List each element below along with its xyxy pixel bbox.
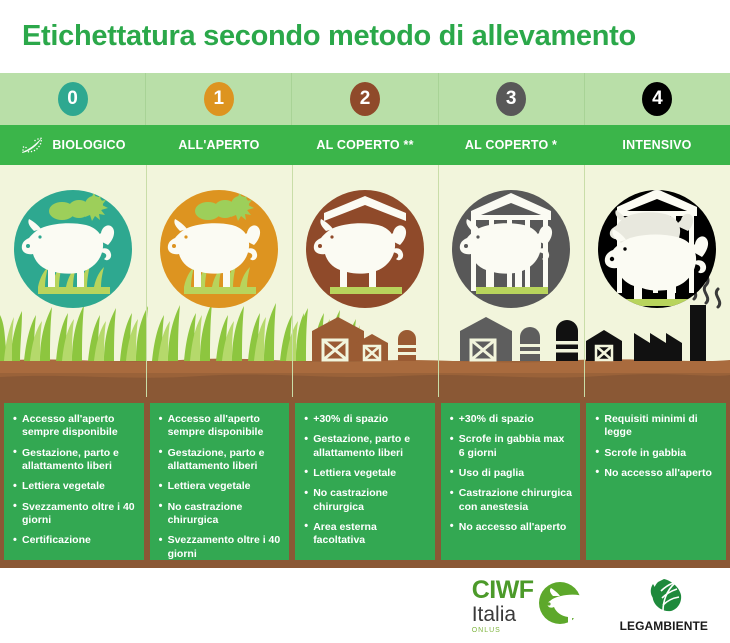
list-item: Svezzamento oltre i 40 giorni (13, 501, 136, 528)
ciwf-name: CIWF (472, 578, 534, 603)
ciwf-italia-logo: CIWF Italia ONLUS (472, 578, 594, 634)
list-item: Lettiera vegetale (304, 467, 427, 480)
criteria-box-3: +30% di spazio Scrofe in gabbia max 6 gi… (441, 403, 581, 560)
criteria-list-4: Requisiti minimi di legge Scrofe in gabb… (595, 413, 718, 480)
header-cell-4: INTENSIVO (584, 125, 730, 165)
scene-graphics (0, 165, 730, 397)
criteria-box-2: +30% di spazio Gestazione, parto e allat… (295, 403, 435, 560)
list-item: Gestazione, parto e allattamento liberi (304, 433, 427, 460)
circle-illustration-3 (452, 190, 570, 308)
badge-cell-3: 3 (439, 73, 585, 125)
circle-illustration-1 (160, 190, 278, 308)
list-item: No castrazione chirurgica (159, 501, 282, 528)
legambiente-name: LEGAMBIENTE (620, 619, 708, 633)
list-item: Scrofe in gabbia (595, 447, 718, 460)
header-row: BIOLOGICO ALL'APERTO AL COPERTO ** AL CO… (0, 125, 730, 165)
header-label-0: BIOLOGICO (52, 138, 125, 152)
scene-divider-3 (438, 165, 439, 397)
badge-2: 2 (350, 82, 380, 116)
list-item: Gestazione, parto e allattamento liberi (13, 447, 136, 474)
header-label-1: ALL'APERTO (178, 138, 259, 152)
list-item: No accesso all'aperto (595, 467, 718, 480)
header-cell-2: AL COPERTO ** (292, 125, 438, 165)
list-item: +30% di spazio (304, 413, 427, 426)
list-item: Requisiti minimi di legge (595, 413, 718, 440)
footer-logos: CIWF Italia ONLUS (0, 568, 730, 643)
criteria-box-0: Accesso all'aperto sempre disponibile Ge… (4, 403, 144, 560)
title-bar: Etichettatura secondo metodo di allevame… (0, 0, 730, 73)
badge-cell-4: 4 (585, 73, 730, 125)
badge-0: 0 (58, 82, 88, 116)
header-cell-0: BIOLOGICO (0, 125, 146, 165)
criteria-list-0: Accesso all'aperto sempre disponibile Ge… (13, 413, 136, 548)
list-item: No castrazione chirurgica (304, 487, 427, 514)
page-title: Etichettatura secondo metodo di allevame… (22, 20, 636, 53)
list-item: Lettiera vegetale (159, 480, 282, 493)
header-label-3: AL COPERTO * (465, 138, 557, 152)
badge-cell-0: 0 (0, 73, 146, 125)
list-item: Scrofe in gabbia max 6 giorni (450, 433, 573, 460)
badge-cell-2: 2 (292, 73, 438, 125)
ciwf-pig-mark-icon (536, 579, 594, 632)
ciwf-subtitle: Italia (472, 604, 534, 625)
scene-divider-4 (584, 165, 585, 397)
badge-cell-1: 1 (146, 73, 292, 125)
header-label-2: AL COPERTO ** (316, 138, 413, 152)
criteria-box-1: Accesso all'aperto sempre disponibile Ge… (150, 403, 290, 560)
header-label-4: INTENSIVO (622, 138, 691, 152)
list-item: Gestazione, parto e allattamento liberi (159, 447, 282, 474)
legambiente-leaf-icon (644, 578, 684, 617)
list-item: Svezzamento oltre i 40 giorni (159, 534, 282, 561)
legambiente-logo: LEGAMBIENTE (620, 578, 708, 633)
criteria-list-1: Accesso all'aperto sempre disponibile Ge… (159, 413, 282, 561)
circle-illustration-2 (306, 190, 424, 308)
badge-3: 3 (496, 82, 526, 116)
list-item: Certificazione (13, 534, 136, 547)
scene-divider-2 (292, 165, 293, 397)
scene-divider-1 (146, 165, 147, 397)
badge-row: 0 1 2 3 4 (0, 73, 730, 125)
list-item: Lettiera vegetale (13, 480, 136, 493)
criteria-box-4: Requisiti minimi di legge Scrofe in gabb… (586, 403, 726, 560)
list-item: Castrazione chirurgica con anestesia (450, 487, 573, 514)
list-item: Accesso all'aperto sempre disponibile (13, 413, 136, 440)
ciwf-logo-text: CIWF Italia ONLUS (472, 578, 534, 634)
header-cell-1: ALL'APERTO (146, 125, 292, 165)
eu-organic-leaf-icon (20, 137, 46, 154)
criteria-list-3: +30% di spazio Scrofe in gabbia max 6 gi… (450, 413, 573, 534)
list-item: Area esterna facoltativa (304, 521, 427, 548)
list-item: Uso di paglia (450, 467, 573, 480)
list-item: +30% di spazio (450, 413, 573, 426)
header-cell-3: AL COPERTO * (438, 125, 584, 165)
list-item: No accesso all'aperto (450, 521, 573, 534)
list-item: Accesso all'aperto sempre disponibile (159, 413, 282, 440)
badge-4: 4 (642, 82, 672, 116)
circle-illustration-0 (14, 190, 132, 308)
illustration-scene (0, 165, 730, 397)
criteria-list-2: +30% di spazio Gestazione, parto e allat… (304, 413, 427, 548)
badge-1: 1 (204, 82, 234, 116)
criteria-boxes-strip: Accesso all'aperto sempre disponibile Ge… (0, 397, 730, 568)
ciwf-onlus-label: ONLUS (472, 627, 534, 634)
